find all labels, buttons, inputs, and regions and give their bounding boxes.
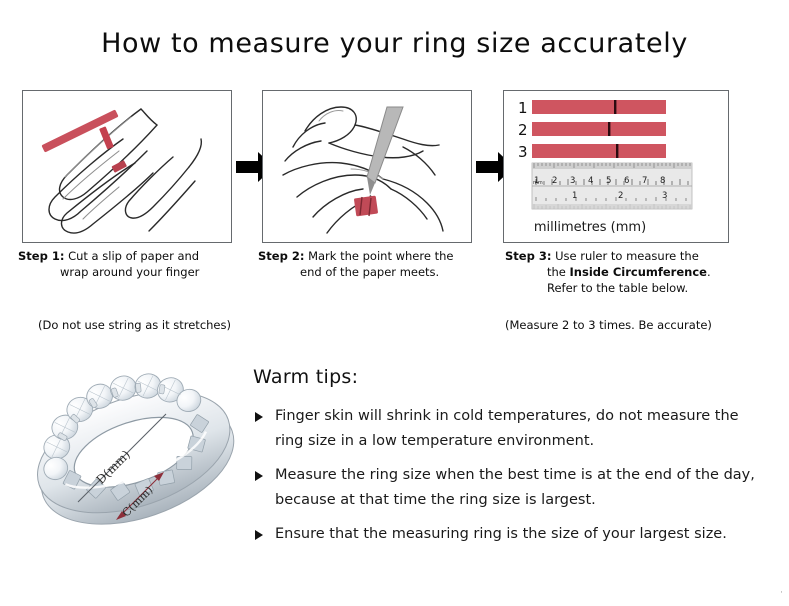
step-2-lead: Step 2: [258,249,304,263]
step-captions: Step 1: Cut a slip of paper and wrap aro… [18,248,773,338]
step-1-line1: Cut a slip of paper and [68,249,199,263]
tip-text: Ensure that the measuring ring is the si… [275,526,727,542]
step-1-lead: Step 1: [18,249,64,263]
tip-item: Ensure that the measuring ring is the si… [253,522,768,547]
tip-text: Measure the ring size when the best time… [275,467,755,508]
hands-marking-paper-icon [263,91,471,242]
svg-text:2: 2 [552,176,557,186]
svg-text:7: 7 [642,176,647,186]
tip-item: Measure the ring size when the best time… [253,463,768,513]
step-3-lead: Step 3: [505,249,551,263]
svg-text:mm: mm [533,180,543,186]
svg-text:3: 3 [518,143,528,161]
step-3-illustration-panel: 1 2 3 123 456 78 m [503,90,729,243]
svg-text:1: 1 [572,191,577,201]
step-2-line2: end of the paper meets. [258,264,490,280]
step-2-line1: Mark the point where the [308,249,453,263]
corner-mark: · [780,588,783,598]
svg-text:1: 1 [518,99,528,117]
steps-row: 1 2 3 123 456 78 m [22,90,767,245]
svg-text:6: 6 [624,176,629,186]
step-3-line2: the Inside Circumference. [505,264,767,280]
step-1-illustration-panel [22,90,232,243]
step-3-emphasis: Inside Circumference [570,265,707,279]
svg-text:2: 2 [518,121,528,139]
svg-text:8: 8 [660,176,665,186]
tip-item: Finger skin will shrink in cold temperat… [253,404,768,454]
ruler-unit-caption: millimetres (mm) [534,220,646,235]
strips-and-ruler-icon: 1 2 3 123 456 78 m [504,91,728,242]
step-2-caption: Step 2: Mark the point where the end of … [258,248,490,280]
warm-tips-section: Warm tips: Finger skin will shrink in co… [253,366,768,556]
bullet-triangle-icon [255,530,263,540]
step-3-line3: Refer to the table below. [505,280,767,296]
step-3-line2-prefix: the [547,265,570,279]
svg-text:2: 2 [618,191,623,201]
step-1-line2: wrap around your finger [18,264,250,280]
step-2-illustration-panel [262,90,472,243]
step-3-note: (Measure 2 to 3 times. Be accurate) [505,318,712,332]
page-title: How to measure your ring size accurately [0,28,789,59]
svg-text:4: 4 [588,176,593,186]
tip-text: Finger skin will shrink in cold temperat… [275,408,739,449]
svg-text:3: 3 [570,176,575,186]
svg-text:5: 5 [606,176,611,186]
step-3-line1: Use ruler to measure the [555,249,699,263]
step-3-line2-tail: . [707,265,711,279]
ring-photo-icon: D(mm) C(mm) [20,352,250,557]
step-1-note: (Do not use string as it stretches) [38,318,231,332]
bullet-triangle-icon [255,471,263,481]
hand-with-paper-strip-icon [23,91,231,242]
warm-tips-heading: Warm tips: [253,366,768,388]
svg-text:3: 3 [662,191,667,201]
step-3-caption: Step 3: Use ruler to measure the the Ins… [505,248,767,296]
step-1-caption: Step 1: Cut a slip of paper and wrap aro… [18,248,250,280]
bullet-triangle-icon [255,412,263,422]
ring-diagram: D(mm) C(mm) [20,352,250,557]
